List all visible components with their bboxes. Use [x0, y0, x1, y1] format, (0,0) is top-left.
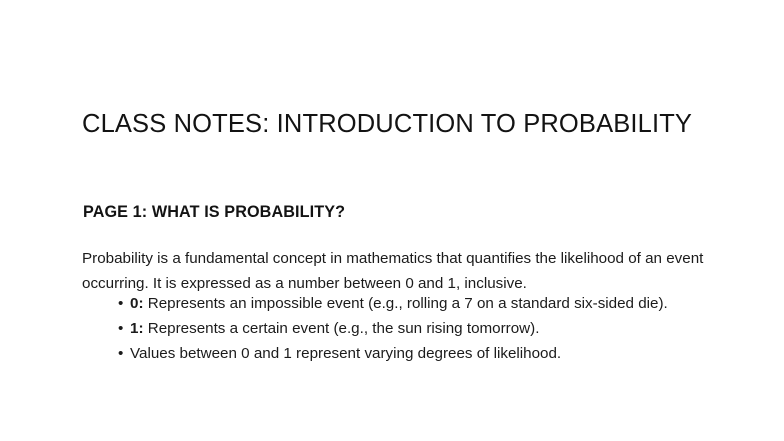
bullet-icon: •	[118, 291, 123, 316]
list-item-text: Values between 0 and 1 represent varying…	[130, 345, 561, 362]
document-page: CLASS NOTES: INTRODUCTION TO PROBABILITY…	[0, 0, 784, 441]
list-item-lead: 1:	[130, 320, 144, 337]
page-title: CLASS NOTES: INTRODUCTION TO PROBABILITY	[82, 110, 692, 139]
bullet-icon: •	[118, 341, 123, 366]
list-item-text: Represents a certain event (e.g., the su…	[144, 320, 540, 337]
section-heading: PAGE 1: WHAT IS PROBABILITY?	[83, 203, 345, 222]
list-item: • Values between 0 and 1 represent varyi…	[118, 341, 708, 366]
bullet-icon: •	[118, 316, 123, 341]
definition-list: • 0: Represents an impossible event (e.g…	[118, 291, 708, 366]
list-item-text: Represents an impossible event (e.g., ro…	[144, 295, 668, 312]
list-item-lead: 0:	[130, 295, 144, 312]
intro-paragraph: Probability is a fundamental concept in …	[82, 246, 707, 296]
list-item: • 1: Represents a certain event (e.g., t…	[118, 316, 708, 341]
list-item: • 0: Represents an impossible event (e.g…	[118, 291, 708, 316]
